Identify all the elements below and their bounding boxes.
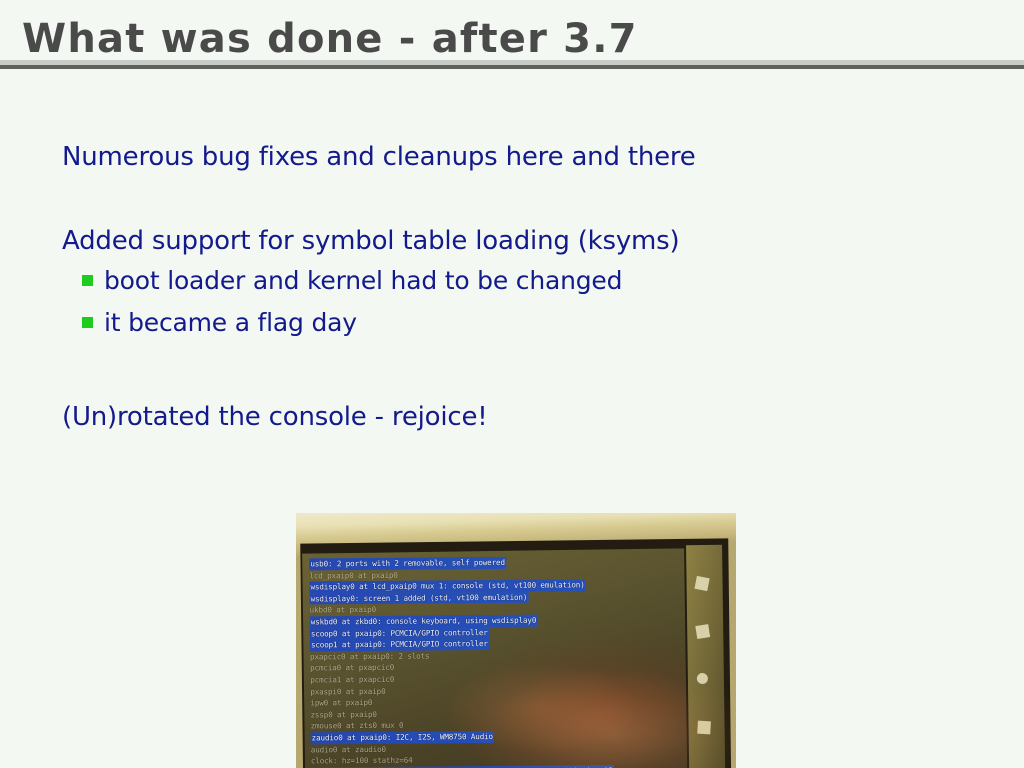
device-button-strip [686, 545, 726, 768]
bullet-line-numerous: Numerous bug fixes and cleanups here and… [62, 142, 696, 172]
list-item: boot loader and kernel had to be changed [82, 266, 622, 295]
header-divider-dark [0, 65, 1024, 69]
console-log-line-text: zaudio0 at pxaip0: I2C, I2S, WM8750 Audi… [311, 731, 494, 744]
console-log-line-text: lcd_pxaip0 at pxaip0 [309, 570, 398, 580]
page-title: What was done - after 3.7 [22, 16, 638, 62]
console-log-line-text: ipw0 at pxaip0 [310, 698, 372, 707]
slide-body: Numerous bug fixes and cleanups here and… [0, 70, 1024, 768]
list-item-label: boot loader and kernel had to be changed [104, 266, 622, 295]
bullet-line-added-support: Added support for symbol table loading (… [62, 226, 679, 256]
square-bullet-icon [82, 275, 93, 286]
square-bullet-icon [82, 317, 93, 328]
console-log-line-text: zmouse0 at zts0 mux 0 [311, 721, 404, 731]
console-log-line-text: usb0: 2 ports with 2 removable, self pow… [309, 557, 506, 570]
console-log-output: usb0: 2 ports with 2 removable, self pow… [309, 555, 688, 768]
console-log-line-text: pcmcia0 at pxapcic0 [310, 663, 394, 673]
device-button-icon [697, 673, 708, 684]
console-log-line-text: clock: hz=100 stathz=64 [311, 756, 413, 766]
device-button-icon [694, 576, 709, 591]
console-log-line-text: wskbd0 at zkbd0: console keyboard, using… [310, 615, 538, 628]
list-item: it became a flag day [82, 308, 357, 337]
console-log-line-text: audio0 at zaudio0 [311, 744, 386, 754]
console-log-line-text: wsdisplay0: screen 1 added (std, vt100 e… [310, 591, 529, 604]
device-button-icon [695, 624, 710, 639]
console-log-line-text: scoop1 at pxaip0: PCMCIA/GPIO controller [310, 638, 489, 651]
console-log-line-text: ukbd0 at pxaip0 [310, 605, 376, 615]
console-log-line-text: pcmcia1 at pxapcic0 [310, 675, 394, 685]
device-photo: usb0: 2 ports with 2 removable, self pow… [296, 513, 736, 768]
list-item-label: it became a flag day [104, 308, 357, 337]
console-log-line-text: pxaspi0 at pxaip0 [310, 686, 385, 696]
slide-header: What was done - after 3.7 [0, 0, 1024, 70]
device-lcd-screen: usb0: 2 ports with 2 removable, self pow… [302, 548, 688, 768]
console-log-line-text: pxapcic0 at pxaip0: 2 slots [310, 651, 429, 661]
bullet-line-unrotated-console: (Un)rotated the console - rejoice! [62, 402, 488, 432]
device-button-icon [697, 721, 711, 735]
console-log-line-text: zssp0 at pxaip0 [310, 710, 376, 720]
